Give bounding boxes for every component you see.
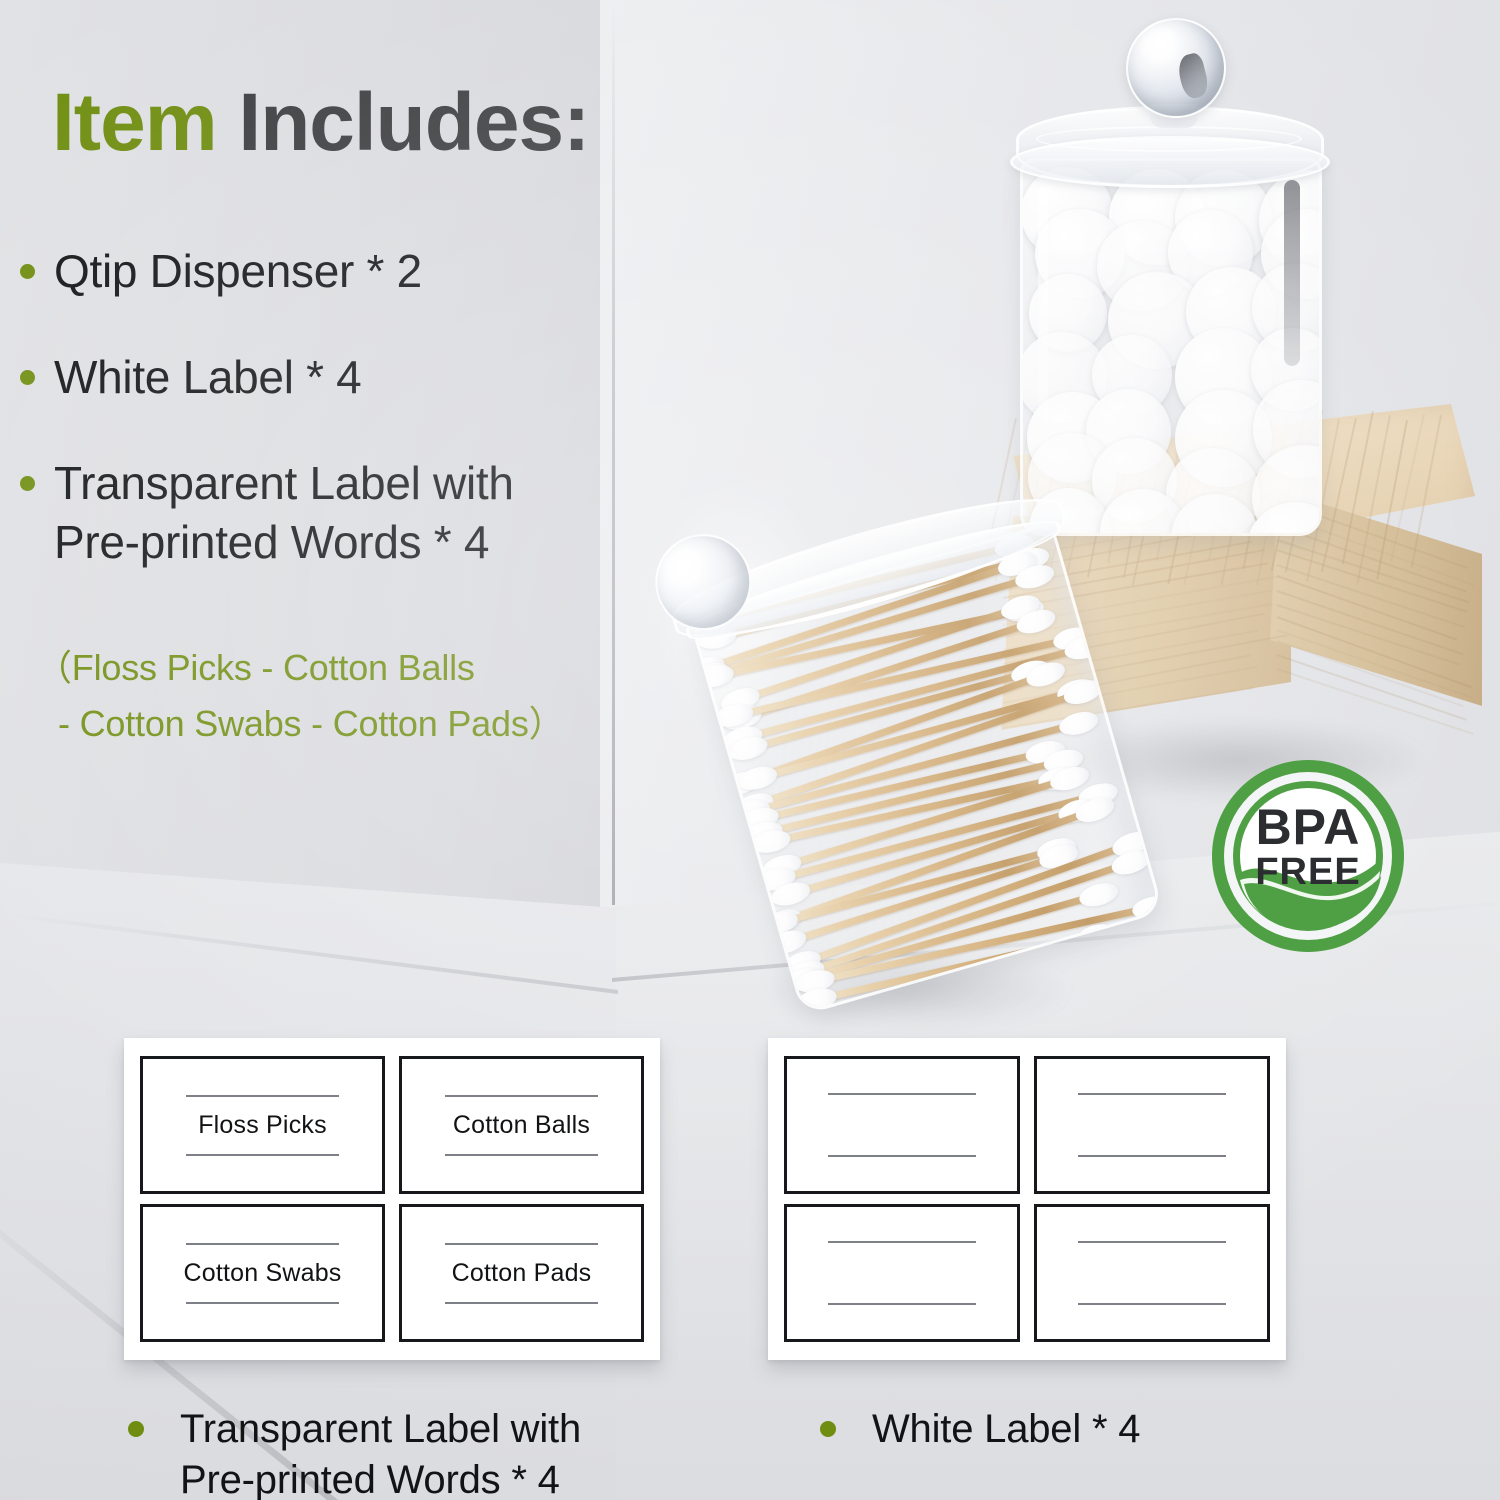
label-rule-top [1078, 1241, 1225, 1243]
label-rule-bottom [828, 1155, 975, 1157]
preprinted-words-line-1: （Floss Picks - Cotton Balls [36, 647, 475, 688]
swab-tip [693, 662, 737, 691]
bullet-dot-icon [20, 370, 35, 385]
label-grid [784, 1056, 1270, 1342]
label-rule-top [828, 1241, 975, 1243]
label-text: Cotton Pads [452, 1259, 592, 1288]
label-rule-top [1078, 1093, 1225, 1095]
label-rule-bottom [1078, 1155, 1225, 1157]
bpa-badge-line-2: FREE [1255, 851, 1360, 893]
page-title-dark: Includes: [238, 77, 589, 168]
feature-list: Qtip Dispenser * 2 White Label * 4 Trans… [20, 242, 710, 619]
label-card-blank [1034, 1056, 1270, 1194]
label-text: Floss Picks [198, 1111, 327, 1140]
label-rule-top [828, 1093, 975, 1095]
label-grid: Floss Picks Cotton Balls Cotton Swabs Co… [140, 1056, 644, 1342]
label-rule-bottom [186, 1154, 339, 1156]
label-rule-bottom [1078, 1303, 1225, 1305]
label-rule-top [445, 1243, 598, 1245]
product-infographic: Item Includes: Qtip Dispenser * 2 White … [0, 0, 1500, 1500]
caption-transparent-label: Transparent Label withPre-printed Words … [128, 1404, 581, 1500]
bullet-dot-icon [20, 264, 35, 279]
page-title-green: Item [52, 77, 217, 168]
label-rule-top [186, 1243, 339, 1245]
label-text: Cotton Balls [453, 1111, 590, 1140]
bullet-dot-icon [128, 1421, 144, 1437]
label-rule-bottom [828, 1303, 975, 1305]
bullet-dot-icon [820, 1421, 836, 1437]
bpa-free-badge: BPA FREE [1208, 756, 1408, 956]
list-item: Qtip Dispenser * 2 [20, 242, 710, 302]
label-rule-bottom [445, 1302, 598, 1304]
list-item: White Label * 4 [20, 348, 710, 408]
bullet-dot-icon [20, 476, 35, 491]
swab-tip [1131, 892, 1164, 921]
list-item: Transparent Label withPre-printed Words … [20, 454, 710, 574]
jar-highlight-dark [1284, 180, 1300, 366]
caption-white-label: White Label * 4 [820, 1404, 1140, 1455]
swab-tip [1061, 676, 1106, 709]
transparent-label-sheet: Floss Picks Cotton Balls Cotton Swabs Co… [124, 1038, 660, 1360]
bpa-free-icon: BPA FREE [1208, 756, 1408, 956]
label-rule-bottom [186, 1302, 339, 1304]
bpa-badge-line-1: BPA [1256, 799, 1361, 855]
list-item-label: Qtip Dispenser * 2 [54, 242, 422, 302]
swab-tip [1056, 708, 1100, 739]
caption-text: White Label * 4 [872, 1404, 1140, 1455]
list-item-label: Transparent Label withPre-printed Words … [54, 454, 514, 574]
label-text: Cotton Swabs [183, 1259, 341, 1288]
label-card: Cotton Balls [399, 1056, 644, 1194]
label-rule-bottom [445, 1154, 598, 1156]
white-label-sheet [768, 1038, 1286, 1360]
label-card-blank [1034, 1204, 1270, 1342]
page-title: Item Includes: [52, 82, 589, 164]
label-card: Cotton Pads [399, 1204, 644, 1342]
label-rule-top [186, 1095, 339, 1097]
label-card: Floss Picks [140, 1056, 385, 1194]
label-card: Cotton Swabs [140, 1204, 385, 1342]
preprinted-words-line-2: - Cotton Swabs - Cotton Pads） [36, 696, 564, 752]
swab-tip [1076, 879, 1120, 910]
jar-knob [1126, 18, 1226, 118]
label-rule-top [445, 1095, 598, 1097]
preprinted-words-list: （Floss Picks - Cotton Balls - Cotton Swa… [36, 640, 564, 752]
label-card-blank [784, 1204, 1020, 1342]
list-item-label: White Label * 4 [54, 348, 361, 408]
label-card-blank [784, 1056, 1020, 1194]
swab-tip [1127, 911, 1164, 942]
jar-lid-groove [1036, 126, 1302, 152]
caption-text: Transparent Label withPre-printed Words … [180, 1404, 581, 1500]
